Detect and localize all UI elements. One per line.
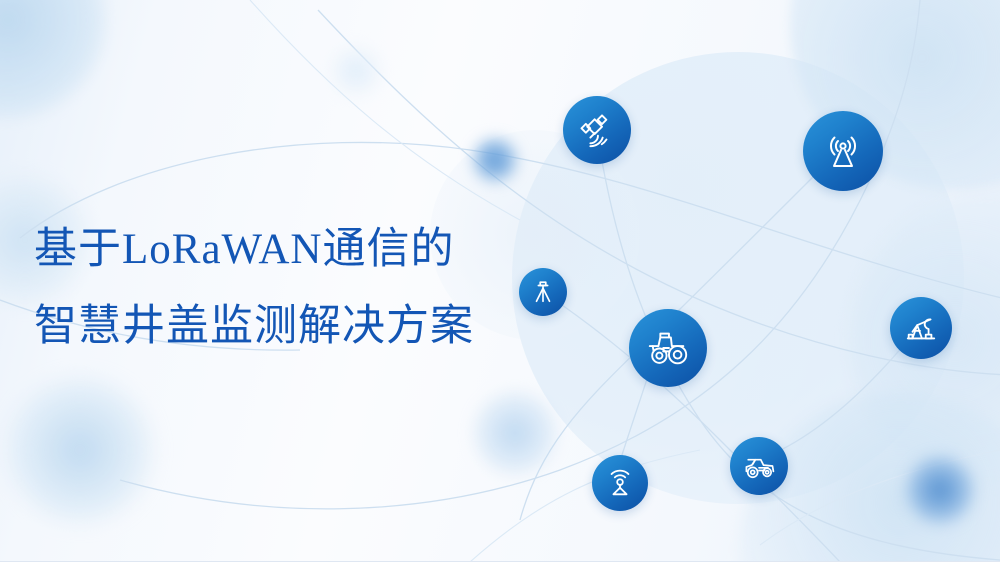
satellite-icon xyxy=(578,111,616,149)
node-oil-pumpjack[interactable] xyxy=(890,297,952,359)
node-harvester[interactable] xyxy=(730,437,788,495)
page-title: 基于LoRaWAN通信的 智慧井盖监测解决方案 xyxy=(34,228,554,348)
accent-dot-bottom-right xyxy=(905,455,975,525)
harvester-icon xyxy=(741,448,777,484)
wireless-sensor-icon xyxy=(604,467,636,499)
node-wireless-sensor[interactable] xyxy=(592,455,648,511)
accent-dot-faint-top xyxy=(330,45,382,97)
survey-tripod-icon xyxy=(530,279,556,305)
oil-pumpjack-icon xyxy=(903,310,939,346)
node-tractor[interactable] xyxy=(629,309,707,387)
accent-dot-upper xyxy=(472,137,518,183)
node-survey-tripod[interactable] xyxy=(519,268,567,316)
accent-dot-lower-left xyxy=(472,390,558,476)
node-radio-tower[interactable] xyxy=(803,111,883,191)
node-satellite[interactable] xyxy=(563,96,631,164)
title-line-2: 智慧井盖监测解决方案 xyxy=(34,305,554,348)
title-line-1: 基于LoRaWAN通信的 xyxy=(34,228,554,271)
title-slide: 基于LoRaWAN通信的 智慧井盖监测解决方案 xyxy=(0,0,1000,562)
tractor-icon xyxy=(645,325,691,371)
radio-tower-icon xyxy=(821,129,865,173)
